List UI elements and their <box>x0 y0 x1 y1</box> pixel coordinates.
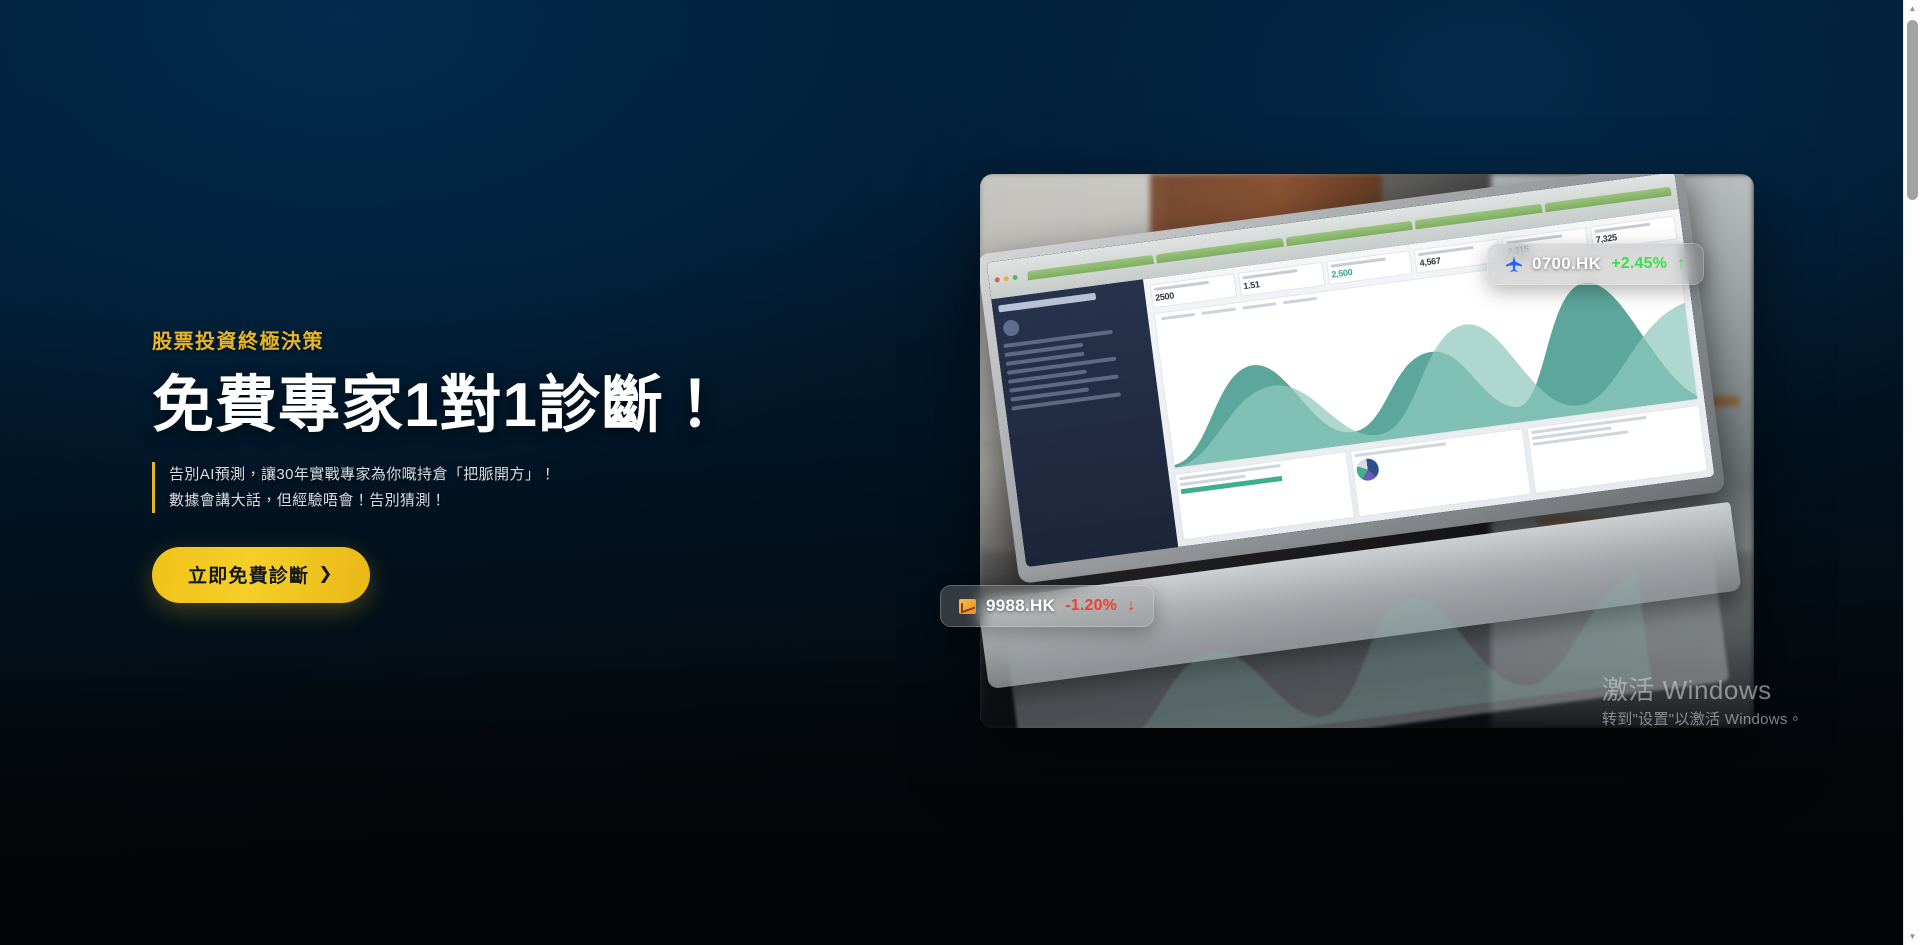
screen-donut-chart <box>1356 458 1381 483</box>
arrow-up-icon: ↑ <box>1677 255 1685 273</box>
ticker-symbol: 0700.HK <box>1532 254 1601 274</box>
arrow-down-icon: ↓ <box>1127 597 1135 615</box>
screen-browser-tab <box>1027 255 1155 281</box>
chevron-right-icon: ❯ <box>318 565 333 582</box>
hero-subtitle: 告別AI預測，讓30年實戰專家為你嘅持倉「把脈開方」！ 數據會講大話，但經驗唔會… <box>152 462 912 512</box>
scroll-up-arrow-icon[interactable]: ▲ <box>1904 0 1920 17</box>
windows-activation-watermark: 激活 Windows 转到"设置"以激活 Windows。 <box>1602 674 1803 731</box>
watermark-title: 激活 Windows <box>1602 674 1803 707</box>
screen-dashboard-avatar <box>1003 319 1021 337</box>
hero-subtitle-line-1: 告別AI預測，讓30年實戰專家為你嘅持倉「把脈開方」！ <box>169 462 912 487</box>
page-scrollbar[interactable]: ▲ ▼ <box>1903 0 1920 945</box>
scroll-down-arrow-icon[interactable]: ▼ <box>1904 928 1920 945</box>
watermark-subtitle: 转到"设置"以激活 Windows。 <box>1602 709 1803 730</box>
ticker-badge-0700hk[interactable]: 0700.HK +2.45% ↑ <box>1487 243 1704 285</box>
browser-viewport: 股票投資終極決策 免費專家1對1診斷！ 告別AI預測，讓30年實戰專家為你嘅持倉… <box>0 0 1920 945</box>
cta-label: 立即免費診斷 <box>188 561 309 588</box>
screen-browser-tab <box>1157 238 1285 264</box>
page-title: 免費專家1對1診斷！ <box>152 371 912 440</box>
airplane-icon <box>1506 256 1522 272</box>
scrollbar-thumb[interactable] <box>1907 20 1918 200</box>
window-maximize-dot-icon <box>1013 275 1019 281</box>
screen-browser-tab <box>1286 221 1414 247</box>
screen-browser-tab <box>1545 187 1673 213</box>
ticker-badge-9988hk[interactable]: 9988.HK -1.20% ↓ <box>940 585 1154 627</box>
ticker-change: -1.20% <box>1065 597 1117 615</box>
window-minimize-dot-icon <box>1004 276 1010 282</box>
chart-increasing-icon <box>959 599 976 614</box>
free-diagnosis-cta-button[interactable]: 立即免費診斷 ❯ <box>152 547 370 603</box>
window-close-dot-icon <box>995 277 1001 283</box>
hero-eyebrow: 股票投資終極決策 <box>152 330 912 355</box>
hero-section: 股票投資終極決策 免費專家1對1診斷！ 告別AI預測，讓30年實戰專家為你嘅持倉… <box>0 0 1903 945</box>
screen-dashboard-brand <box>999 293 1098 313</box>
hero-subtitle-line-2: 數據會講大話，但經驗唔會！告別猜測！ <box>169 488 912 513</box>
ticker-symbol: 9988.HK <box>986 596 1055 616</box>
ticker-change: +2.45% <box>1611 255 1667 273</box>
screen-browser-tab <box>1415 204 1543 230</box>
hero-copy-block: 股票投資終極決策 免費專家1對1診斷！ 告別AI預測，讓30年實戰專家為你嘅持倉… <box>152 330 912 603</box>
